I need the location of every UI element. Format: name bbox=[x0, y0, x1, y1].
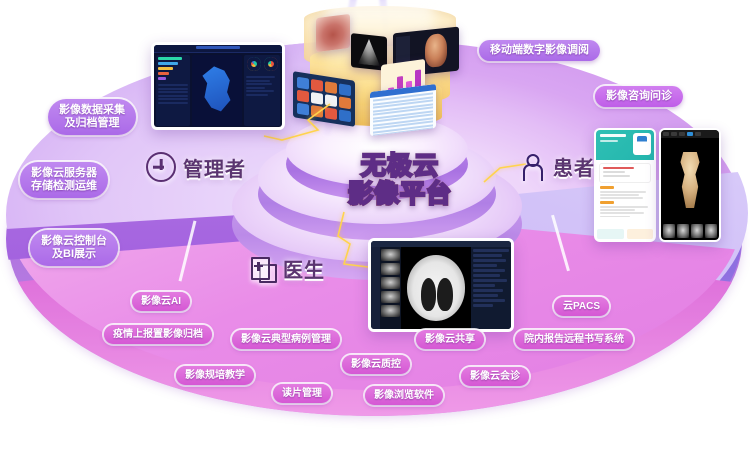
pill-doctor-2-label: 影像云典型病例管理 bbox=[241, 334, 331, 346]
endoscopy-image-panel bbox=[316, 14, 350, 52]
pill-admin-0-line-2: 及归档管理 bbox=[59, 117, 125, 130]
ct-main-image bbox=[401, 247, 471, 329]
health-app-action-right[interactable] bbox=[627, 229, 654, 239]
pill-patient-0[interactable]: 移动端数字影像调阅 bbox=[479, 40, 600, 61]
pill-doctor-2[interactable]: 影像云典型病例管理 bbox=[232, 330, 340, 349]
pill-doctor-6-label: 影像云质控 bbox=[351, 359, 401, 371]
ct-thorax bbox=[407, 255, 466, 321]
pill-admin-0-line-1: 影像数据采集 bbox=[59, 104, 125, 117]
pill-admin-0[interactable]: 影像数据采集 及归档管理 bbox=[48, 99, 136, 135]
health-app-action-left[interactable] bbox=[597, 229, 624, 239]
pill-doctor-5[interactable]: 影像浏览软件 bbox=[365, 386, 443, 405]
pill-patient-1[interactable]: 影像咨询问诊 bbox=[595, 86, 683, 107]
role-patient[interactable]: 患者 bbox=[520, 152, 595, 181]
bi-dashboard-inner bbox=[154, 45, 282, 127]
ct-viewer-body bbox=[371, 247, 511, 329]
pill-patient-0-label: 移动端数字影像调阅 bbox=[490, 44, 589, 57]
pill-doctor-8[interactable]: 影像云共享 bbox=[416, 330, 484, 349]
ct-series-thumbnails bbox=[380, 247, 401, 329]
ct-report-panel bbox=[471, 247, 511, 329]
role-doctor-label: 医生 bbox=[283, 254, 325, 283]
bi-donut-1 bbox=[247, 57, 261, 71]
pill-admin-2[interactable]: 影像云控制台 及BI展示 bbox=[30, 230, 118, 266]
pill-admin-2-line-1: 影像云控制台 bbox=[41, 235, 107, 248]
health-app-header bbox=[596, 130, 654, 160]
title-line-2: 影像平台 bbox=[330, 180, 470, 208]
role-patient-label: 患者 bbox=[553, 152, 595, 181]
health-app-section-1 bbox=[600, 186, 650, 199]
pill-doctor-0-label: 影像云AI bbox=[141, 296, 181, 308]
pill-doctor-9[interactable]: 云PACS bbox=[554, 297, 609, 316]
medical-report-icon bbox=[250, 256, 276, 282]
pill-doctor-4-label: 读片管理 bbox=[282, 388, 322, 400]
pill-doctor-0[interactable]: 影像云AI bbox=[132, 292, 190, 311]
bi-right-column bbox=[244, 55, 280, 126]
mobile-3d-ct-phone[interactable] bbox=[659, 128, 721, 242]
ct-lung-left bbox=[421, 278, 436, 311]
role-administrator-label: 管理者 bbox=[183, 153, 246, 182]
bi-left-column bbox=[156, 55, 190, 126]
pill-doctor-4[interactable]: 读片管理 bbox=[273, 384, 331, 403]
health-app-screen bbox=[596, 130, 654, 240]
pill-doctor-1-label: 疫情上报置影像归档 bbox=[113, 329, 203, 341]
mobile-ct-screen bbox=[661, 130, 719, 240]
bi-dashboard-title-bar bbox=[196, 46, 240, 49]
pill-admin-1-line-1: 影像云服务器 bbox=[31, 167, 97, 180]
health-app-actions[interactable] bbox=[597, 229, 653, 239]
pill-doctor-3-label: 影像规培教学 bbox=[185, 370, 245, 382]
ct-viewer-inner bbox=[371, 241, 511, 329]
mobile-ct-skeleton-render bbox=[673, 152, 707, 208]
pill-doctor-6[interactable]: 影像云质控 bbox=[342, 355, 410, 374]
pill-patient-1-label: 影像咨询问诊 bbox=[606, 90, 672, 103]
pill-doctor-3[interactable]: 影像规培教学 bbox=[176, 366, 254, 385]
pill-admin-2-line-2: 及BI展示 bbox=[41, 248, 107, 261]
spreadsheet-panel bbox=[370, 84, 436, 136]
circle-plus-icon bbox=[146, 152, 176, 182]
doctor-avatar-icon bbox=[633, 133, 651, 155]
pill-doctor-8-label: 影像云共享 bbox=[425, 334, 475, 346]
title-line-1: 无极云 bbox=[330, 152, 470, 180]
pill-admin-1[interactable]: 影像云服务器 存储检测运维 bbox=[20, 162, 108, 198]
bi-donut-2 bbox=[264, 57, 278, 71]
pill-admin-1-line-2: 存储检测运维 bbox=[31, 180, 97, 193]
bi-map-shape bbox=[200, 66, 234, 113]
bi-map-panel bbox=[192, 55, 242, 126]
page-title: 无极云 影像平台 bbox=[330, 152, 470, 208]
bi-dashboard-screen[interactable] bbox=[151, 42, 285, 130]
role-doctor[interactable]: 医生 bbox=[250, 254, 325, 283]
person-icon bbox=[520, 154, 546, 180]
ct-tool-rail bbox=[371, 247, 380, 329]
pill-doctor-5-label: 影像浏览软件 bbox=[374, 390, 434, 402]
role-administrator[interactable]: 管理者 bbox=[146, 152, 246, 182]
volume-render-body bbox=[425, 33, 447, 68]
ultrasound-fan bbox=[358, 38, 380, 66]
pill-doctor-1[interactable]: 疫情上报置影像归档 bbox=[104, 325, 212, 344]
health-app-card bbox=[599, 163, 651, 183]
pill-doctor-7[interactable]: 影像云会诊 bbox=[461, 367, 529, 386]
health-app-section-2 bbox=[600, 201, 650, 217]
patient-health-app-phone[interactable] bbox=[594, 128, 656, 242]
pill-doctor-10-label: 院内报告远程书写系统 bbox=[524, 334, 624, 346]
ct-image-viewer-screen[interactable] bbox=[368, 238, 514, 332]
bi-dashboard-body bbox=[154, 53, 282, 127]
pill-doctor-7-label: 影像云会诊 bbox=[470, 371, 520, 383]
pill-doctor-10[interactable]: 院内报告远程书写系统 bbox=[515, 330, 633, 349]
mobile-ct-toolbar bbox=[661, 130, 719, 138]
mobile-ct-thumbnails bbox=[663, 224, 717, 238]
infographic-canvas: 无极云 影像平台 管理者 患者 医生 影像数据采集 及归档管理 影像云服务器 存… bbox=[0, 0, 750, 450]
bi-dashboard-topbar bbox=[154, 45, 282, 53]
spreadsheet-rows bbox=[370, 90, 436, 136]
ct-lung-right bbox=[437, 278, 452, 311]
pill-doctor-9-label: 云PACS bbox=[563, 301, 600, 313]
